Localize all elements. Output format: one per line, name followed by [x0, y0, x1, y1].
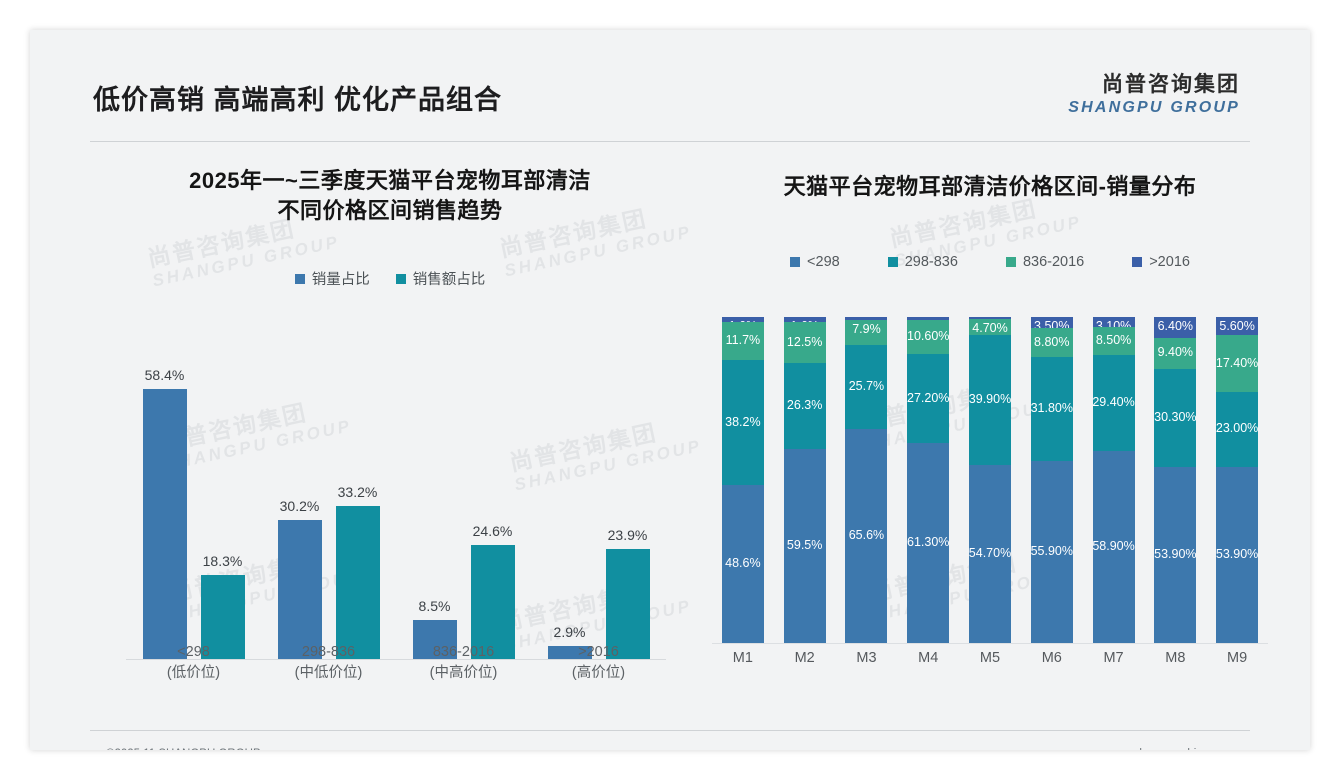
segment-value-label: 9.40% [1158, 345, 1193, 359]
legend-label: >2016 [1149, 254, 1190, 270]
stacked-bar-column[interactable]: 0.8%7.9%25.7%65.6% [845, 317, 887, 643]
segment-value-label: 17.40% [1216, 356, 1258, 370]
stacked-bar-segment[interactable]: 59.5% [784, 449, 826, 643]
legend-label: 836-2016 [1023, 254, 1084, 270]
stacked-bar-column[interactable]: 0.70%4.70%39.90%54.70% [969, 317, 1011, 643]
segment-value-label: 53.90% [1216, 547, 1258, 561]
legend-swatch-icon [790, 257, 800, 267]
x-axis-label: M4 [907, 650, 949, 666]
segment-value-label: 30.30% [1154, 410, 1196, 424]
segment-value-label: 25.7% [849, 379, 884, 393]
segment-value-label: 39.90% [969, 392, 1011, 406]
slide-canvas: 尚普咨询集团 SHANGPU GROUP 尚普咨询集团 SHANGPU GROU… [30, 30, 1310, 750]
footer-copyright: ©2025.11 SHANGPU GROUP [106, 748, 261, 750]
bar-group: 58.4%18.3% [126, 359, 261, 659]
logo-text-en: SHANGPU GROUP [1068, 99, 1240, 117]
x-axis-label: M6 [1031, 650, 1073, 666]
chart-title-right: 天猫平台宠物耳部清洁价格区间-销量分布 [690, 172, 1290, 202]
segment-value-label: 26.3% [787, 398, 822, 412]
segment-value-label: 5.60% [1219, 319, 1254, 333]
chart-panel-grouped: 2025年一~三季度天猫平台宠物耳部清洁 不同价格区间销售趋势 销量占比销售额占… [90, 150, 690, 710]
segment-value-label: 8.50% [1096, 333, 1131, 347]
stacked-bar-segment[interactable]: 8.50% [1093, 327, 1135, 355]
stacked-bar-segment[interactable]: 8.80% [1031, 328, 1073, 357]
stacked-bar-segment[interactable]: 3.10% [1093, 317, 1135, 327]
x-axis-label: M5 [969, 650, 1011, 666]
x-axis-label: M9 [1216, 650, 1258, 666]
legend-left: 销量占比销售额占比 [90, 268, 690, 289]
stacked-bar-segment[interactable]: 54.70% [969, 465, 1011, 643]
stacked-bar-column[interactable]: 6.40%9.40%30.30%53.90% [1154, 317, 1196, 643]
segment-value-label: 31.80% [1031, 401, 1073, 415]
stacked-bar-segment[interactable]: 9.40% [1154, 338, 1196, 369]
bar-column[interactable]: 23.9% [606, 359, 650, 659]
segment-value-label: 23.00% [1216, 421, 1258, 435]
footer-website: www.shangpu-china.com [1106, 748, 1234, 750]
x-axis-line [712, 643, 1268, 644]
bar-value-label: 30.2% [280, 498, 320, 514]
stacked-bar-segment[interactable]: 26.3% [784, 363, 826, 449]
legend-item-right-0[interactable]: <298 [790, 254, 840, 270]
grouped-bar-chart: 58.4%18.3%<298(低价位)30.2%33.2%298-836(中低价… [126, 330, 666, 660]
legend-label: 销量占比 [312, 268, 370, 289]
legend-right: <298298-836836-2016>2016 [690, 254, 1290, 270]
stacked-bar-segment[interactable]: 39.90% [969, 335, 1011, 465]
segment-value-label: 27.20% [907, 391, 949, 405]
segment-value-label: 54.70% [969, 546, 1011, 560]
x-axis-label: M8 [1154, 650, 1196, 666]
stacked-bar-chart: 1.6%11.7%38.2%48.6%M11.6%12.5%26.3%59.5%… [712, 318, 1268, 664]
stacked-bar-segment[interactable]: 38.2% [722, 360, 764, 484]
segment-value-label: 55.90% [1031, 544, 1073, 558]
chart-title-left-line2: 不同价格区间销售趋势 [90, 196, 690, 226]
chart-title-left: 2025年一~三季度天猫平台宠物耳部清洁 不同价格区间销售趋势 [90, 166, 690, 225]
stacked-bar-column[interactable]: 1.6%11.7%38.2%48.6% [722, 317, 764, 643]
x-axis-label-tier: (中高价位) [396, 663, 531, 684]
x-axis-label-range: 298-836 [261, 642, 396, 663]
bar-value-label: 33.2% [338, 484, 378, 500]
legend-swatch-icon [396, 274, 406, 284]
legend-item-left-0[interactable]: 销量占比 [295, 268, 370, 289]
stacked-bar-segment[interactable]: 30.30% [1154, 369, 1196, 468]
x-axis-label: M7 [1093, 650, 1135, 666]
segment-value-label: 48.6% [725, 556, 760, 570]
segment-value-label: 10.60% [907, 329, 949, 343]
footer-divider [90, 730, 1250, 731]
x-axis-label: M2 [784, 650, 826, 666]
logo-text-cn: 尚普咨询集团 [1068, 68, 1240, 98]
stacked-bar-segment[interactable]: 12.5% [784, 322, 826, 363]
bar-segment[interactable] [278, 520, 322, 659]
bar-value-label: 58.4% [145, 367, 185, 383]
bar-segment[interactable] [143, 389, 187, 659]
x-axis-label: >2016(高价位) [531, 642, 666, 684]
stacked-bar-segment[interactable]: 11.7% [722, 322, 764, 360]
stacked-bar-segment[interactable]: 10.60% [907, 320, 949, 355]
legend-swatch-icon [1132, 257, 1142, 267]
bar-value-label: 8.5% [419, 598, 451, 614]
bar-value-label: 23.9% [608, 527, 648, 543]
legend-item-right-2[interactable]: 836-2016 [1006, 254, 1084, 270]
stacked-bar-segment[interactable]: 58.90% [1093, 451, 1135, 643]
x-axis-label: M1 [722, 650, 764, 666]
bar-segment[interactable] [336, 506, 380, 659]
header-divider [90, 141, 1250, 142]
bar-column[interactable]: 30.2% [278, 359, 322, 659]
bar-column[interactable]: 18.3% [201, 359, 245, 659]
legend-item-right-1[interactable]: 298-836 [888, 254, 958, 270]
x-axis-label: M3 [845, 650, 887, 666]
segment-value-label: 7.9% [852, 322, 881, 336]
stacked-bar-segment[interactable]: 53.90% [1216, 467, 1258, 643]
stacked-bar-segment[interactable]: 17.40% [1216, 335, 1258, 392]
slide-header: 低价高销 高端高利 优化产品组合 尚普咨询集团 SHANGPU GROUP [30, 30, 1310, 112]
x-axis-label: 836-2016(中高价位) [396, 642, 531, 684]
stacked-bar-column[interactable]: 5.60%17.40%23.00%53.90% [1216, 317, 1258, 643]
stacked-bar-segment[interactable]: 5.60% [1216, 317, 1258, 335]
segment-value-label: 8.80% [1034, 335, 1069, 349]
page-title: 低价高销 高端高利 优化产品组合 [93, 78, 502, 117]
segment-value-label: 59.5% [787, 538, 822, 552]
bar-value-label: 2.9% [554, 624, 586, 640]
brand-logo: 尚普咨询集团 SHANGPU GROUP [1068, 68, 1240, 117]
x-axis-label-range: 836-2016 [396, 642, 531, 663]
segment-value-label: 6.40% [1158, 319, 1193, 333]
segment-value-label: 38.2% [725, 415, 760, 429]
bar-value-label: 24.6% [473, 523, 513, 539]
segment-value-label: 29.40% [1092, 395, 1134, 409]
stacked-bar-segment[interactable]: 29.40% [1093, 355, 1135, 451]
stacked-bar-segment[interactable]: 3.50% [1031, 317, 1073, 328]
legend-item-left-1[interactable]: 销售额占比 [396, 268, 486, 289]
stacked-bar-column[interactable]: 3.10%8.50%29.40%58.90% [1093, 317, 1135, 643]
bar-group: 2.9%23.9% [531, 359, 666, 659]
segment-value-label: 65.6% [849, 528, 884, 542]
legend-swatch-icon [1006, 257, 1016, 267]
legend-item-right-3[interactable]: >2016 [1132, 254, 1190, 270]
stacked-bar-segment[interactable]: 31.80% [1031, 357, 1073, 461]
bar-column[interactable]: 8.5% [413, 359, 457, 659]
segment-value-label: 58.90% [1092, 539, 1134, 553]
stacked-bar-column[interactable]: 3.50%8.80%31.80%55.90% [1031, 317, 1073, 643]
x-axis-label: 298-836(中低价位) [261, 642, 396, 684]
x-axis-label: <298(低价位) [126, 642, 261, 684]
x-axis-label-range: >2016 [531, 642, 666, 663]
stacked-bar-segment[interactable]: 53.90% [1154, 467, 1196, 643]
bar-column[interactable]: 58.4% [143, 359, 187, 659]
stacked-bar-segment[interactable]: 27.20% [907, 354, 949, 443]
chart-title-left-line1: 2025年一~三季度天猫平台宠物耳部清洁 [90, 166, 690, 196]
segment-value-label: 61.30% [907, 535, 949, 549]
x-axis-label-tier: (中低价位) [261, 663, 396, 684]
segment-value-label: 53.90% [1154, 547, 1196, 561]
stacked-bar-segment[interactable]: 48.6% [722, 485, 764, 643]
x-axis-label-range: <298 [126, 642, 261, 663]
stacked-bar-column[interactable]: 0.90%10.60%27.20%61.30% [907, 317, 949, 643]
stacked-bar-column[interactable]: 1.6%12.5%26.3%59.5% [784, 317, 826, 643]
stacked-bar-segment[interactable]: 61.30% [907, 443, 949, 643]
legend-label: <298 [807, 254, 840, 270]
bar-column[interactable]: 2.9% [548, 359, 592, 659]
stacked-bar-segment[interactable]: 65.6% [845, 429, 887, 643]
stacked-bar-segment[interactable]: 23.00% [1216, 392, 1258, 467]
bar-column[interactable]: 24.6% [471, 359, 515, 659]
legend-label: 298-836 [905, 254, 958, 270]
bar-column[interactable]: 33.2% [336, 359, 380, 659]
bar-group: 30.2%33.2% [261, 359, 396, 659]
legend-label: 销售额占比 [413, 268, 486, 289]
chart-panel-stacked: 天猫平台宠物耳部清洁价格区间-销量分布 <298298-836836-2016>… [690, 150, 1290, 710]
bar-group: 8.5%24.6% [396, 359, 531, 659]
segment-value-label: 11.7% [726, 333, 761, 347]
legend-swatch-icon [888, 257, 898, 267]
segment-value-label: 12.5% [787, 335, 822, 349]
x-axis-label-tier: (高价位) [531, 663, 666, 684]
stacked-bar-segment[interactable]: 25.7% [845, 345, 887, 429]
legend-swatch-icon [295, 274, 305, 284]
x-axis-label-tier: (低价位) [126, 663, 261, 684]
segment-value-label: 4.70% [972, 321, 1007, 335]
stacked-bar-segment[interactable]: 6.40% [1154, 317, 1196, 338]
stacked-bar-segment[interactable]: 4.70% [969, 319, 1011, 334]
bar-value-label: 18.3% [203, 553, 243, 569]
stacked-bar-segment[interactable]: 55.90% [1031, 461, 1073, 643]
stacked-bar-segment[interactable]: 7.9% [845, 320, 887, 346]
